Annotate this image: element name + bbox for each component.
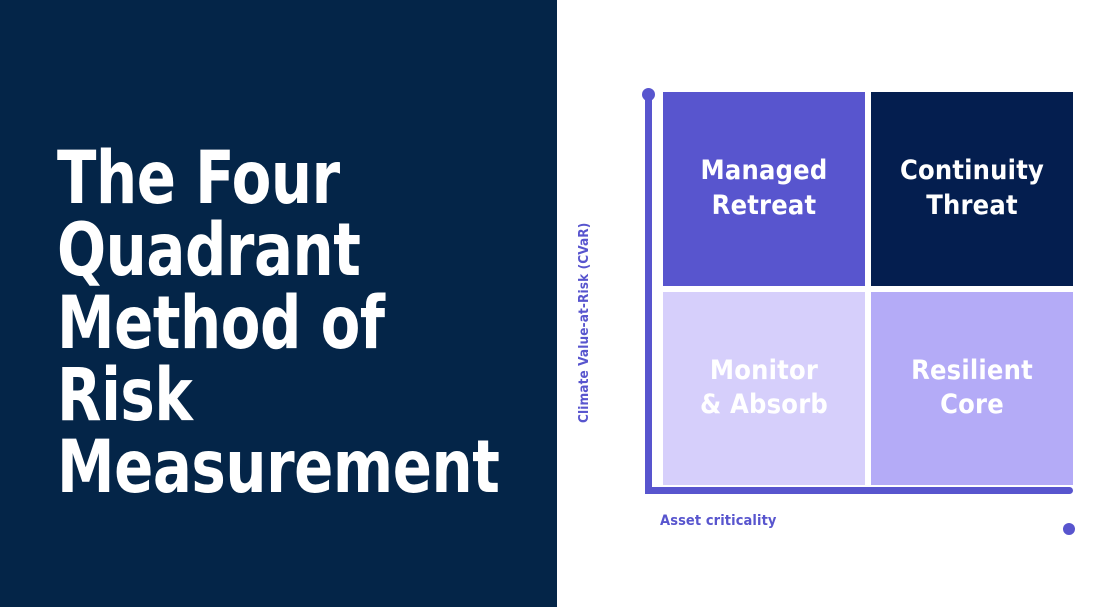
x-axis-label: Asset criticality (660, 513, 777, 529)
quadrant-grid: Managed Retreat Continuity Threat Monito… (663, 92, 1073, 485)
y-axis-cap-dot-icon (642, 88, 655, 101)
quadrant-chart: Climate Value-at-Risk (CVaR) Asset criti… (557, 0, 1115, 607)
quadrant-managed-retreat[interactable]: Managed Retreat (663, 92, 865, 286)
x-axis-end-dot-icon (1063, 523, 1075, 535)
title-panel: The Four Quadrant Method of Risk Measure… (0, 0, 557, 607)
y-axis-line (645, 92, 652, 494)
slide-canvas: The Four Quadrant Method of Risk Measure… (0, 0, 1115, 607)
y-axis-label: Climate Value-at-Risk (CVaR) (576, 183, 592, 423)
quadrant-continuity-threat[interactable]: Continuity Threat (871, 92, 1073, 286)
x-axis-line (645, 487, 1073, 494)
quadrant-resilient-core[interactable]: Resilient Core (871, 292, 1073, 486)
quadrant-monitor-absorb[interactable]: Monitor & Absorb (663, 292, 865, 486)
page-title: The Four Quadrant Method of Risk Measure… (57, 143, 471, 504)
